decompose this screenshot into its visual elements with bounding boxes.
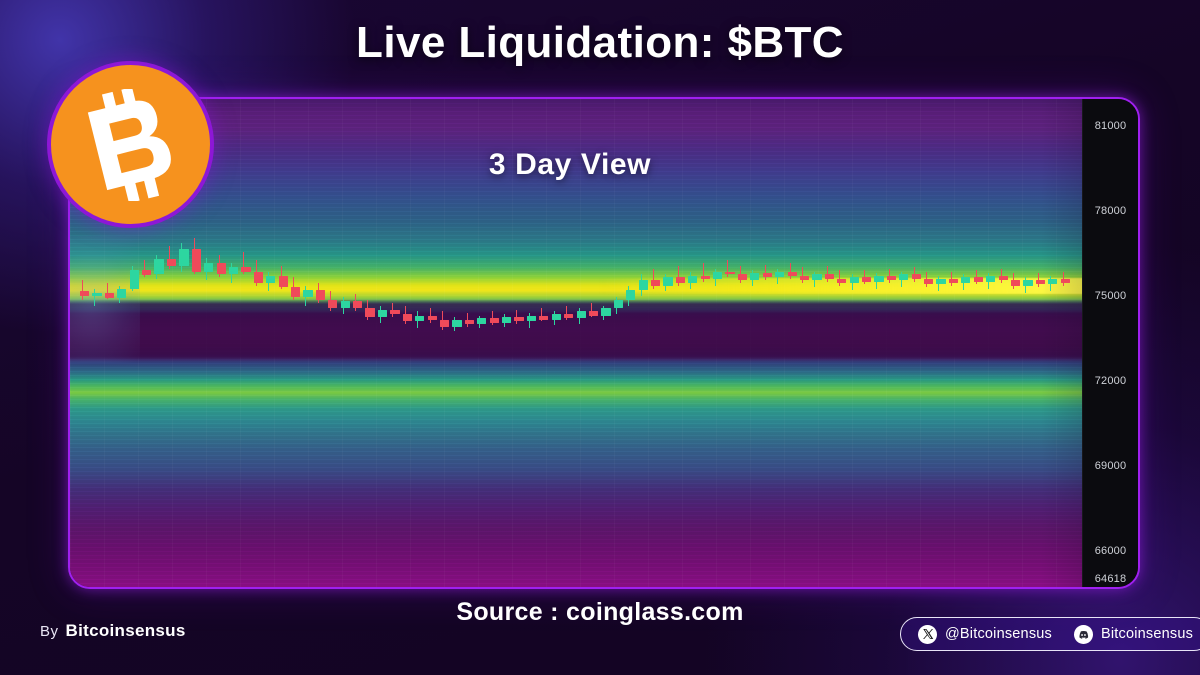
candle-body (105, 293, 114, 298)
candle-body (825, 274, 834, 278)
candle-body (874, 276, 883, 282)
candle-body (502, 317, 511, 323)
candle-body (514, 317, 523, 321)
candle-body (266, 276, 275, 283)
candle-wick (703, 263, 704, 281)
social-x[interactable]: @Bitcoinsensus (918, 625, 1052, 644)
social-handles-bar[interactable]: @Bitcoinsensus Bitcoinsensus (900, 617, 1200, 651)
candle-body (328, 300, 337, 308)
candle-body (80, 291, 89, 295)
candle-body (117, 289, 126, 298)
candle-body (788, 272, 797, 276)
candle-body (837, 279, 846, 283)
candle-body (130, 270, 139, 288)
candle-body (775, 272, 784, 278)
candle-body (539, 316, 548, 320)
candle-body (465, 320, 474, 324)
candle-body (241, 267, 250, 271)
candle-body (279, 276, 288, 287)
candle-body (167, 259, 176, 266)
candle-body (1036, 280, 1045, 284)
candle-body (961, 277, 970, 283)
candle-body (440, 320, 449, 327)
candle-wick (94, 289, 95, 306)
candle-wick (727, 260, 728, 277)
byline-name: Bitcoinsensus (66, 621, 186, 641)
candle-body (415, 316, 424, 322)
candle-wick (144, 260, 145, 277)
candle-body (92, 293, 101, 296)
candle-body (887, 276, 896, 280)
candle-body (614, 300, 623, 308)
candle-body (303, 290, 312, 297)
candle-body (701, 276, 710, 279)
candle-body (1061, 279, 1070, 283)
bitcoin-b-icon (81, 89, 181, 201)
byline-prefix: By (40, 623, 59, 640)
candle-body (254, 272, 263, 283)
discord-icon (1074, 625, 1093, 644)
candle-body (999, 276, 1008, 280)
price-axis-tick: 75000 (1083, 290, 1138, 302)
candle-body (552, 314, 561, 320)
candle-wick (790, 263, 791, 279)
candle-body (1023, 280, 1032, 286)
candle-body (924, 279, 933, 285)
candle-body (974, 277, 983, 281)
bitcoin-logo (47, 61, 214, 228)
candle-body (490, 318, 499, 322)
price-axis-tick: 72000 (1083, 375, 1138, 387)
candle-body (738, 274, 747, 280)
price-axis-tick: 64618 (1083, 573, 1138, 585)
candle-body (179, 249, 188, 266)
candle-body (651, 280, 660, 286)
candle-body (601, 308, 610, 315)
price-axis-tick: 69000 (1083, 460, 1138, 472)
x-handle: @Bitcoinsensus (945, 626, 1052, 642)
candle-body (477, 318, 486, 324)
price-axis-tick: 66000 (1083, 545, 1138, 557)
candle-body (217, 263, 226, 274)
candle-body (316, 290, 325, 300)
discord-handle: Bitcoinsensus (1101, 626, 1193, 642)
screenshot-canvas: Live Liquidation: $BTC 81000780007500072… (0, 0, 1200, 675)
candle-body (341, 301, 350, 308)
candle-body (428, 316, 437, 320)
candle-body (192, 249, 201, 272)
candle-body (949, 279, 958, 283)
candle-body (899, 274, 908, 280)
candle-body (564, 314, 573, 318)
candle-body (626, 290, 635, 300)
candle-body (378, 310, 387, 317)
candle-body (763, 273, 772, 277)
page-title: Live Liquidation: $BTC (0, 18, 1200, 68)
candle-body (452, 320, 461, 327)
candle-body (862, 277, 871, 281)
byline: By Bitcoinsensus (40, 621, 186, 641)
candle-body (353, 301, 362, 308)
candle-body (527, 316, 536, 322)
candle-body (403, 314, 412, 321)
candle-body (936, 279, 945, 285)
candle-body (800, 276, 809, 280)
candle-body (850, 277, 859, 283)
candle-body (390, 310, 399, 314)
price-axis-tick: 78000 (1083, 205, 1138, 217)
candle-wick (82, 280, 83, 300)
candle-body (663, 277, 672, 285)
candle-body (229, 267, 238, 274)
candle-body (750, 273, 759, 280)
candle-body (986, 276, 995, 282)
candle-body (688, 276, 697, 283)
candle-body (713, 272, 722, 279)
social-discord[interactable]: Bitcoinsensus (1074, 625, 1193, 644)
candle-body (204, 263, 213, 271)
candle-body (639, 280, 648, 290)
candle-body (1048, 279, 1057, 285)
x-twitter-icon (918, 625, 937, 644)
candle-body (142, 270, 151, 274)
candle-body (676, 277, 685, 283)
candle-body (577, 311, 586, 318)
candle-body (912, 274, 921, 278)
candle-body (589, 311, 598, 315)
candle-body (365, 308, 374, 316)
candle-body (154, 259, 163, 275)
candle-body (1011, 280, 1020, 286)
price-axis-tick: 81000 (1083, 120, 1138, 132)
candle-body (812, 274, 821, 280)
candle-body (291, 287, 300, 297)
